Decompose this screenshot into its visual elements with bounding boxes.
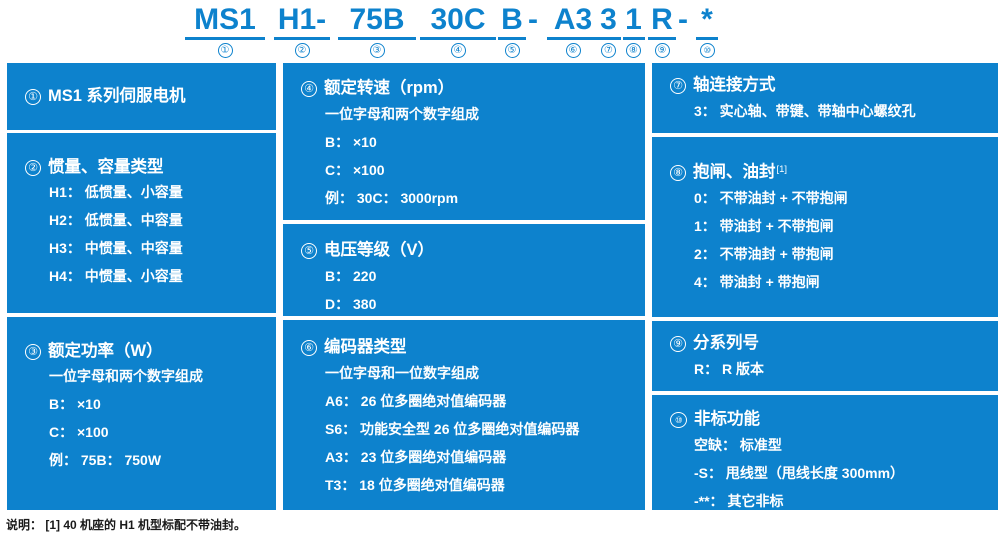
code-segment-index-badge: ⑨ <box>655 43 670 58</box>
panel-6-option: A3： 23 位多圈绝对值编码器 <box>325 448 506 467</box>
panel-2-option: H2： 低惯量、中容量 <box>49 211 183 230</box>
code-segment-8: 1⑧ <box>621 4 646 58</box>
panel-9: ⑨分系列号R： R 版本 <box>650 321 998 391</box>
panel-8-title: ⑧抱闸、油封[1] <box>670 162 786 185</box>
panel-4-option: 一位字母和两个数字组成 <box>325 105 479 124</box>
panel-1-title: ①MS1 系列伺服电机 <box>25 86 186 106</box>
code-segment-text: H1- <box>267 4 337 36</box>
panel-6-option: T3： 18 位多圈绝对值编码器 <box>325 476 505 495</box>
code-segment-text: 75B <box>338 4 416 36</box>
panel-3-title: ③额定功率（W） <box>25 341 163 361</box>
panel-6-option: 一位字母和一位数字组成 <box>325 364 479 383</box>
panel-10-title-text: 非标功能 <box>694 409 760 429</box>
panel-4-option: 例： 30C： 3000rpm <box>325 189 458 208</box>
panel-9-title-text: 分系列号 <box>693 333 759 353</box>
code-segment-1: MS1① <box>185 4 265 58</box>
panel-5-option: B： 220 <box>325 267 376 286</box>
panel-1-title-text: MS1 系列伺服电机 <box>48 86 186 106</box>
panel-3-option: C： ×100 <box>49 423 109 442</box>
panel-5-option: D： 380 <box>325 295 376 314</box>
panel-8-index-badge: ⑧ <box>670 165 686 181</box>
panel-7-index-badge: ⑦ <box>670 78 686 94</box>
code-segment-underline <box>185 37 265 40</box>
code-segment-index-badge: ① <box>218 43 233 58</box>
code-segment-2: H1-② <box>267 4 337 58</box>
panel-6-option: S6： 功能安全型 26 位多圈绝对值编码器 <box>325 420 579 439</box>
code-segment-text: B <box>498 4 526 36</box>
panel-4-index-badge: ④ <box>301 81 317 97</box>
panel-8-option: 4： 带油封 + 带抱闸 <box>694 273 820 292</box>
panel-8-title-text: 抱闸、油封 <box>693 162 776 182</box>
panel-8-option: 2： 不带油封 + 带抱闸 <box>694 245 834 264</box>
panel-10: ⑩非标功能空缺： 标准型-S： 甩线型（甩线长度 300mm）-**： 其它非标 <box>650 395 998 510</box>
panel-5: ⑤电压等级（V）B： 220D： 380 <box>281 224 645 316</box>
panel-6-title: ⑥编码器类型 <box>301 337 407 357</box>
code-segment-index-badge: ⑩ <box>700 43 715 58</box>
panel-4-title-text: 额定转速（rpm） <box>324 78 454 98</box>
panel-5-index-badge: ⑤ <box>301 243 317 259</box>
panel-3-index-badge: ③ <box>25 344 41 360</box>
panel-4-option: B： ×10 <box>325 133 377 152</box>
code-segment-underline <box>274 37 330 40</box>
panel-2-option: H3： 中惯量、中容量 <box>49 239 183 258</box>
code-segment-underline <box>623 37 645 40</box>
panel-10-index-badge: ⑩ <box>670 412 687 428</box>
panel-2: ②惯量、容量类型H1： 低惯量、小容量H2： 低惯量、中容量H3： 中惯量、中容… <box>5 133 276 313</box>
code-separator-dash: - <box>528 4 538 36</box>
panel-2-option: H4： 中惯量、小容量 <box>49 267 183 286</box>
code-segment-index-badge: ⑤ <box>505 43 520 58</box>
code-segment-underline <box>498 37 526 40</box>
panel-10-option: 空缺： 标准型 <box>694 436 782 455</box>
panel-10-title: ⑩非标功能 <box>670 409 760 429</box>
panel-10-option: -S： 甩线型（甩线长度 300mm） <box>694 464 904 483</box>
panel-9-index-badge: ⑨ <box>670 336 686 352</box>
panel-3: ③额定功率（W）一位字母和两个数字组成B： ×10C： ×100例： 75B： … <box>5 317 276 510</box>
code-segment-text: 1 <box>621 4 646 36</box>
panel-6-option: A6： 26 位多圈绝对值编码器 <box>325 392 506 411</box>
code-segment-5: B⑤ <box>498 4 526 58</box>
code-segment-underline <box>338 37 416 40</box>
code-segment-index-badge: ② <box>295 43 310 58</box>
panel-2-option: H1： 低惯量、小容量 <box>49 183 183 202</box>
panel-4-title: ④额定转速（rpm） <box>301 78 454 98</box>
code-segment-6: A3⑥ <box>547 4 599 58</box>
code-segment-underline <box>648 37 676 40</box>
panel-8-option: 1： 带油封 + 不带抱闸 <box>694 217 834 236</box>
panel-4-option: C： ×100 <box>325 161 385 180</box>
code-segment-index-badge: ③ <box>370 43 385 58</box>
code-segment-text: MS1 <box>185 4 265 36</box>
panel-3-option: 例： 75B： 750W <box>49 451 161 470</box>
code-segment-3: 75B③ <box>338 4 416 58</box>
code-segment-text: 30C <box>420 4 496 36</box>
panel-9-option: R： R 版本 <box>694 360 764 379</box>
code-segment-text: * <box>694 4 720 36</box>
panel-2-index-badge: ② <box>25 160 41 176</box>
model-code-header: MS1①H1-②75B③30C④B⑤A3⑥3⑦1⑧R⑨*⑩-- <box>0 0 1000 58</box>
code-segment-10: *⑩ <box>694 4 720 58</box>
code-segment-underline <box>596 37 621 40</box>
panel-8-option: 0： 不带油封 + 不带抱闸 <box>694 189 848 208</box>
panel-7-title: ⑦轴连接方式 <box>670 75 776 95</box>
code-segment-underline <box>696 37 718 40</box>
panel-6-title-text: 编码器类型 <box>324 337 407 357</box>
code-segment-index-badge: ④ <box>451 43 466 58</box>
code-segment-underline <box>547 37 599 40</box>
code-segment-index-badge: ⑦ <box>601 43 616 58</box>
panel-6-index-badge: ⑥ <box>301 340 317 356</box>
footnote-text: 说明： [1] 40 机座的 H1 机型标配不带油封。 <box>6 516 246 533</box>
code-segment-text: 3 <box>596 4 621 36</box>
panel-2-title: ②惯量、容量类型 <box>25 157 164 177</box>
code-segment-index-badge: ⑥ <box>566 43 581 58</box>
code-segment-index-badge: ⑧ <box>626 43 641 58</box>
code-segment-underline <box>420 37 496 40</box>
code-segment-text: A3 <box>547 4 599 36</box>
panel-3-option: 一位字母和两个数字组成 <box>49 367 203 386</box>
panel-5-title: ⑤电压等级（V） <box>301 240 434 260</box>
panel-3-option: B： ×10 <box>49 395 101 414</box>
panel-7-option: 3： 实心轴、带键、带轴中心螺纹孔 <box>694 102 916 121</box>
panel-7: ⑦轴连接方式3： 实心轴、带键、带轴中心螺纹孔 <box>650 63 998 133</box>
panel-1: ①MS1 系列伺服电机 <box>5 63 276 130</box>
panel-1-index-badge: ① <box>25 89 41 105</box>
code-segment-7: 3⑦ <box>596 4 621 58</box>
panel-9-title: ⑨分系列号 <box>670 333 759 353</box>
panel-8-footnote-marker: [1] <box>777 160 788 180</box>
panel-8: ⑧抱闸、油封[1]0： 不带油封 + 不带抱闸1： 带油封 + 不带抱闸2： 不… <box>650 137 998 317</box>
code-separator-dash: - <box>678 4 688 36</box>
code-segment-text: R <box>648 4 676 36</box>
panel-10-option: -**： 其它非标 <box>694 492 783 510</box>
panel-2-title-text: 惯量、容量类型 <box>48 157 164 177</box>
panel-3-title-text: 额定功率（W） <box>48 341 163 361</box>
panel-7-title-text: 轴连接方式 <box>693 75 776 95</box>
code-segment-4: 30C④ <box>420 4 496 58</box>
code-segment-9: R⑨ <box>648 4 676 58</box>
panel-4: ④额定转速（rpm）一位字母和两个数字组成B： ×10C： ×100例： 30C… <box>281 63 645 220</box>
panel-6: ⑥编码器类型一位字母和一位数字组成A6： 26 位多圈绝对值编码器S6： 功能安… <box>281 320 645 510</box>
panel-5-title-text: 电压等级（V） <box>324 240 434 260</box>
